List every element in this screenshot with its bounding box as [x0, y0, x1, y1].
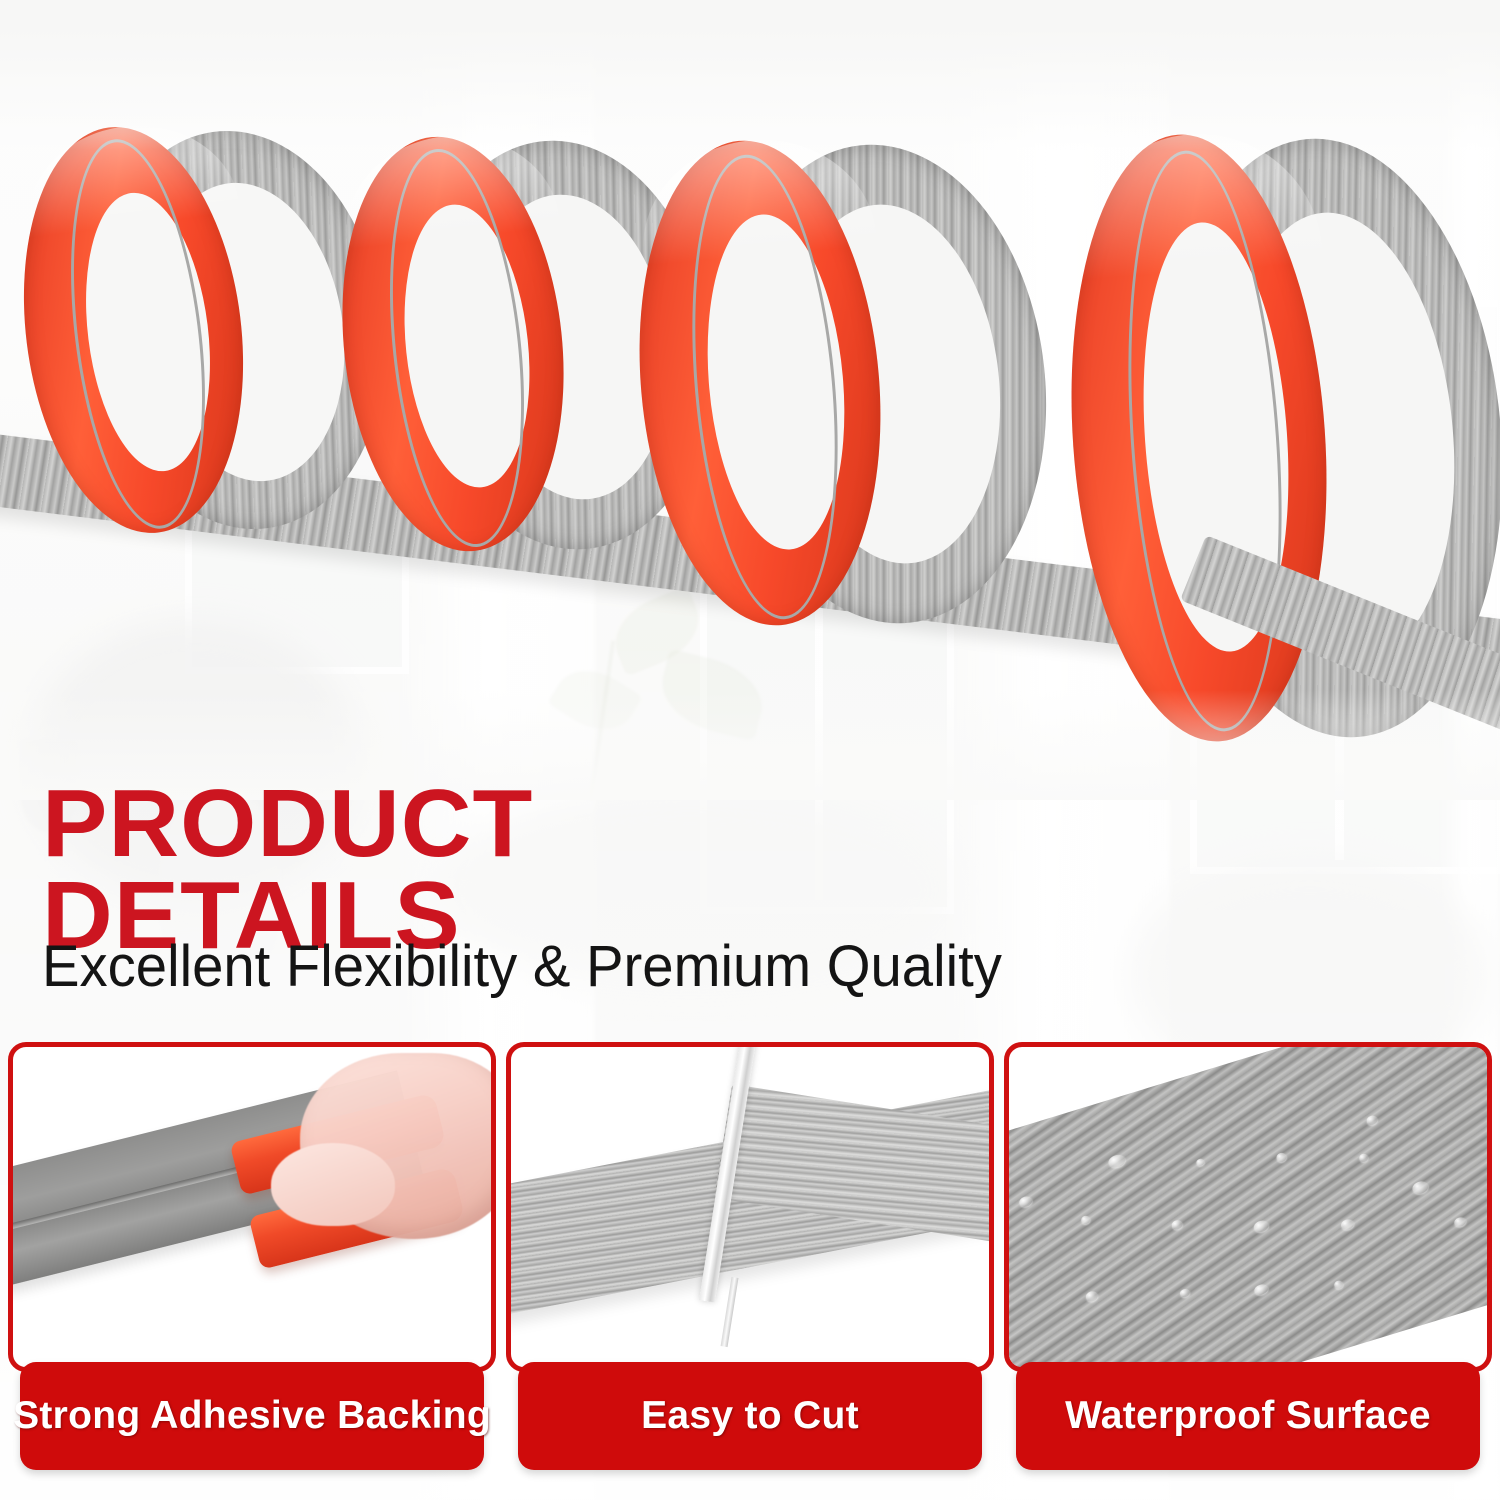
feature-panel-cut: Easy to Cut [506, 1034, 994, 1474]
feature-image-waterproof [1004, 1042, 1492, 1372]
hero-product-coils [0, 0, 1500, 800]
page-title-line1: PRODUCT [42, 770, 533, 877]
water-droplet [1179, 1287, 1191, 1298]
hero-top-fade [0, 0, 1500, 150]
water-droplet [1253, 1283, 1269, 1297]
feature-caption-text: Waterproof Surface [1065, 1394, 1431, 1438]
water-droplet [1107, 1153, 1127, 1169]
water-droplet [1196, 1158, 1206, 1167]
feature-caption-bar-waterproof: Waterproof Surface [1016, 1362, 1480, 1470]
feature-panel-waterproof: Waterproof Surface [1004, 1034, 1492, 1474]
feature-caption-bar-cut: Easy to Cut [518, 1362, 982, 1470]
water-droplet [1253, 1218, 1271, 1233]
coil-3 [625, 130, 1055, 650]
water-droplet [1276, 1152, 1288, 1164]
water-droplet [1411, 1179, 1430, 1195]
feature-image-adhesive [8, 1042, 496, 1372]
blade-tip-icon [721, 1277, 739, 1348]
water-droplet [1334, 1279, 1345, 1289]
water-droplet [1081, 1215, 1092, 1225]
thumb-icon [271, 1143, 395, 1226]
water-droplet [1171, 1219, 1184, 1231]
feature-caption-text: Strong Adhesive Backing [13, 1394, 491, 1438]
seal-strip-wet [1004, 1042, 1492, 1372]
feature-caption-bar-adhesive: Strong Adhesive Backing [20, 1362, 484, 1470]
feature-image-cut [506, 1042, 994, 1372]
feature-caption-text: Easy to Cut [641, 1394, 859, 1438]
water-droplet [1018, 1194, 1033, 1207]
water-droplet [1340, 1218, 1355, 1231]
page-subtitle: Excellent Flexibility & Premium Quality [42, 938, 1002, 996]
water-droplet [1085, 1290, 1099, 1303]
page-title: PRODUCT DETAILS [42, 686, 533, 1055]
water-droplet [1453, 1216, 1467, 1228]
water-droplet [1358, 1153, 1369, 1163]
product-detail-image: PRODUCT DETAILS Excellent Flexibility & … [0, 0, 1500, 1500]
feature-panel-adhesive: Strong Adhesive Backing [8, 1034, 496, 1474]
feature-panel-list: Strong Adhesive Backing Easy to Cut [0, 1034, 1500, 1500]
water-droplet [1365, 1114, 1378, 1126]
